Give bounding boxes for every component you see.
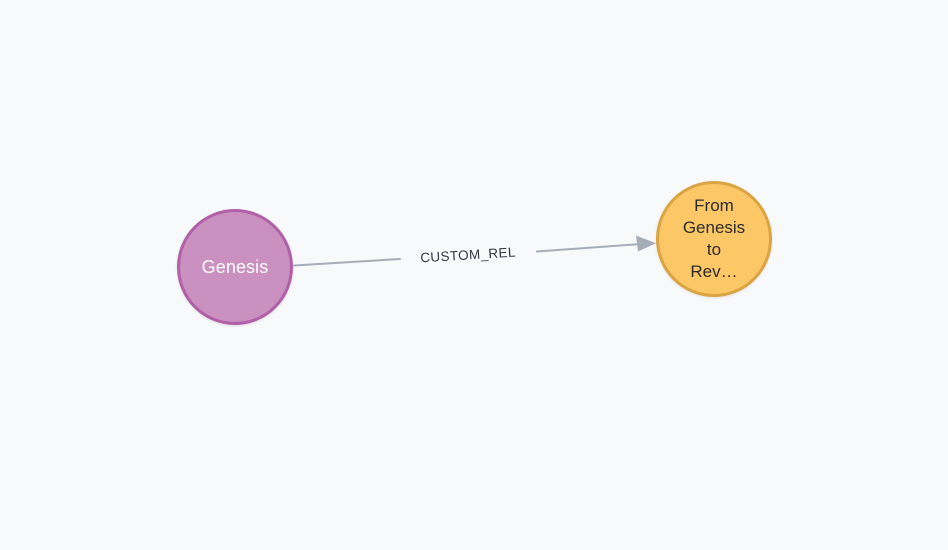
graph-node-fromgenesis[interactable]: From Genesis to Rev… <box>656 181 772 297</box>
relationship-line-segment-left[interactable] <box>294 259 400 266</box>
graph-edges-layer <box>0 0 948 550</box>
graph-node-genesis-caption: Genesis <box>180 257 290 278</box>
graph-node-genesis[interactable]: Genesis <box>177 209 293 325</box>
relationship-line-segment-right[interactable] <box>537 244 641 252</box>
graph-canvas[interactable]: Genesis From Genesis to Rev… CUSTOM_REL <box>0 0 948 550</box>
relationship-arrowhead-icon <box>636 236 656 252</box>
graph-node-fromgenesis-caption: From Genesis to Rev… <box>659 195 769 283</box>
